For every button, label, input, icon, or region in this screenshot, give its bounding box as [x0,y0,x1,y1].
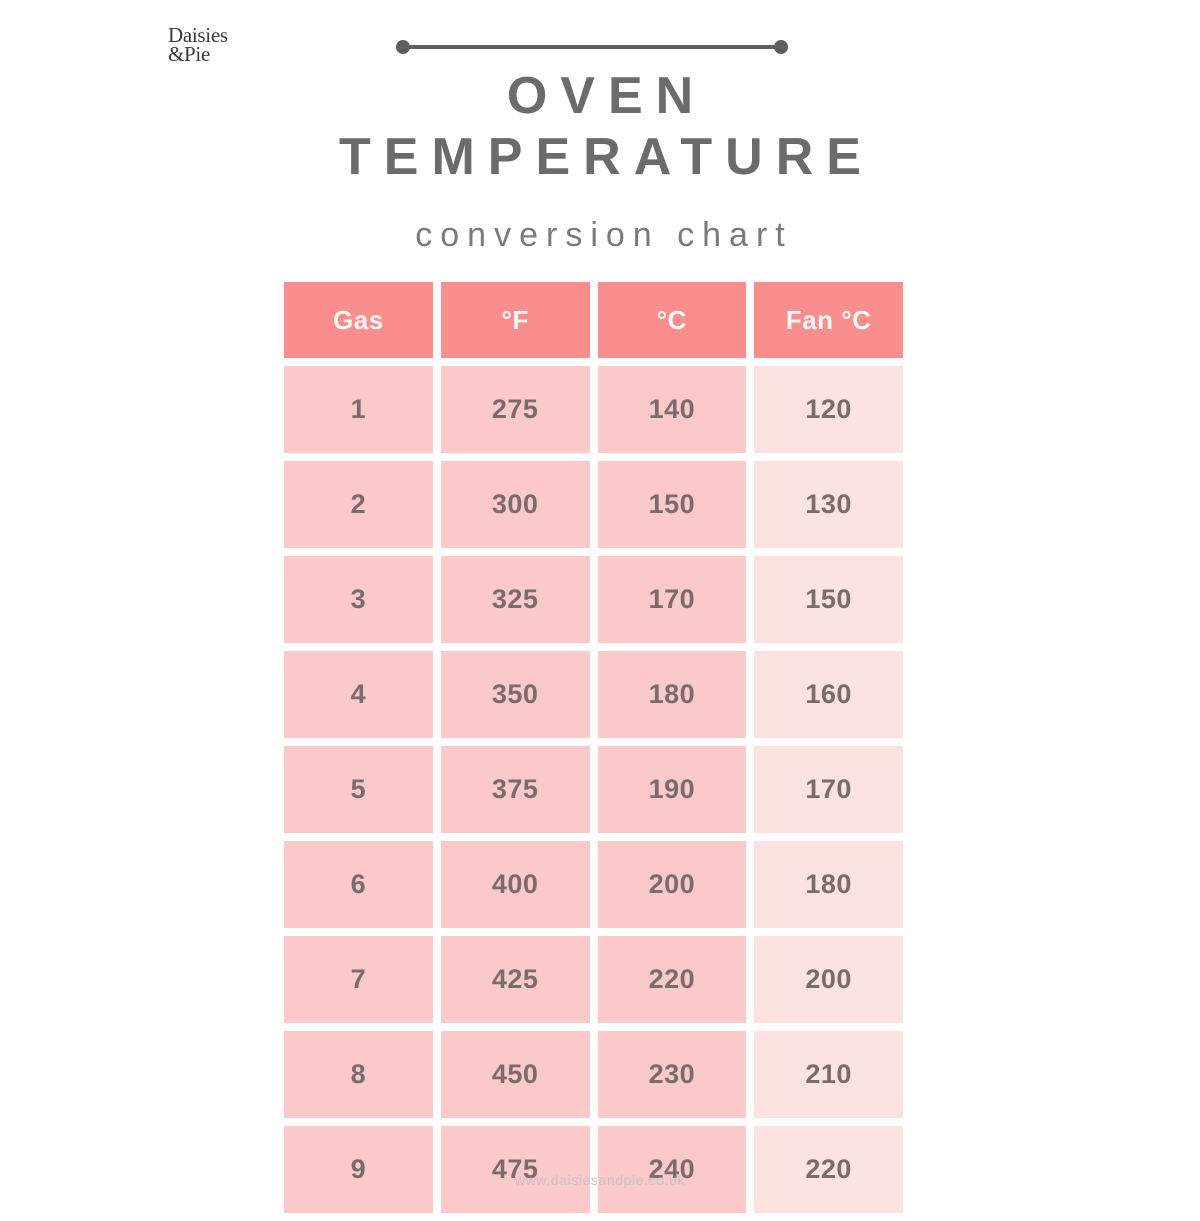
table-cell: 5 [284,746,433,833]
brand-logo: Daisies &Pie [168,26,278,65]
table-cell: 170 [598,556,747,643]
table-cell: 450 [441,1031,590,1118]
table-cell: 220 [598,936,747,1023]
table-row: 2300150130 [284,461,903,548]
table-cell: 160 [754,651,903,738]
table-cell: 3 [284,556,433,643]
table-cell: 140 [598,366,747,453]
table-cell: 7 [284,936,433,1023]
table-row: 6400200180 [284,841,903,928]
table-row: 7425220200 [284,936,903,1023]
oven-temperature-conversion-table: Gas°F°CFan °C 12751401202300150130332517… [284,282,903,1221]
table-cell: 6 [284,841,433,928]
page-subtitle: conversion chart [0,216,1200,255]
table-cell: 425 [441,936,590,1023]
footer-url: www.daisiesandpie.co.uk [0,1172,1200,1188]
table-cell: 1 [284,366,433,453]
table-cell: 200 [598,841,747,928]
table-row: 5375190170 [284,746,903,833]
rule-right-dot-icon [774,40,788,54]
table-cell: 275 [441,366,590,453]
table-cell: 150 [754,556,903,643]
rule-bar [403,45,781,49]
table-header-row: Gas°F°CFan °C [284,282,903,358]
table-cell: 210 [754,1031,903,1118]
table-cell: 350 [441,651,590,738]
table-cell: 300 [441,461,590,548]
table-row: 3325170150 [284,556,903,643]
horizontal-rule-with-end-dots-icon [396,40,788,54]
table-cell: 180 [598,651,747,738]
table-cell: 2 [284,461,433,548]
page-title-line-1: OVEN [0,66,1200,127]
table-cell: 230 [598,1031,747,1118]
page-title: OVEN TEMPERATURE [0,66,1200,189]
table-cell: 325 [441,556,590,643]
table-column-header: Fan °C [754,282,903,358]
table-column-header: °C [598,282,747,358]
table-column-header: Gas [284,282,433,358]
table-cell: 190 [598,746,747,833]
table-cell: 375 [441,746,590,833]
table-cell: 120 [754,366,903,453]
table-row: 4350180160 [284,651,903,738]
table-cell: 180 [754,841,903,928]
table-cell: 400 [441,841,590,928]
table-cell: 150 [598,461,747,548]
table-cell: 8 [284,1031,433,1118]
table-cell: 130 [754,461,903,548]
brand-logo-line-2: &Pie [168,45,278,64]
table-column-header: °F [441,282,590,358]
table-row: 8450230210 [284,1031,903,1118]
table-cell: 200 [754,936,903,1023]
table-row: 1275140120 [284,366,903,453]
table-cell: 4 [284,651,433,738]
table-cell: 170 [754,746,903,833]
page-title-line-2: TEMPERATURE [0,127,1200,188]
